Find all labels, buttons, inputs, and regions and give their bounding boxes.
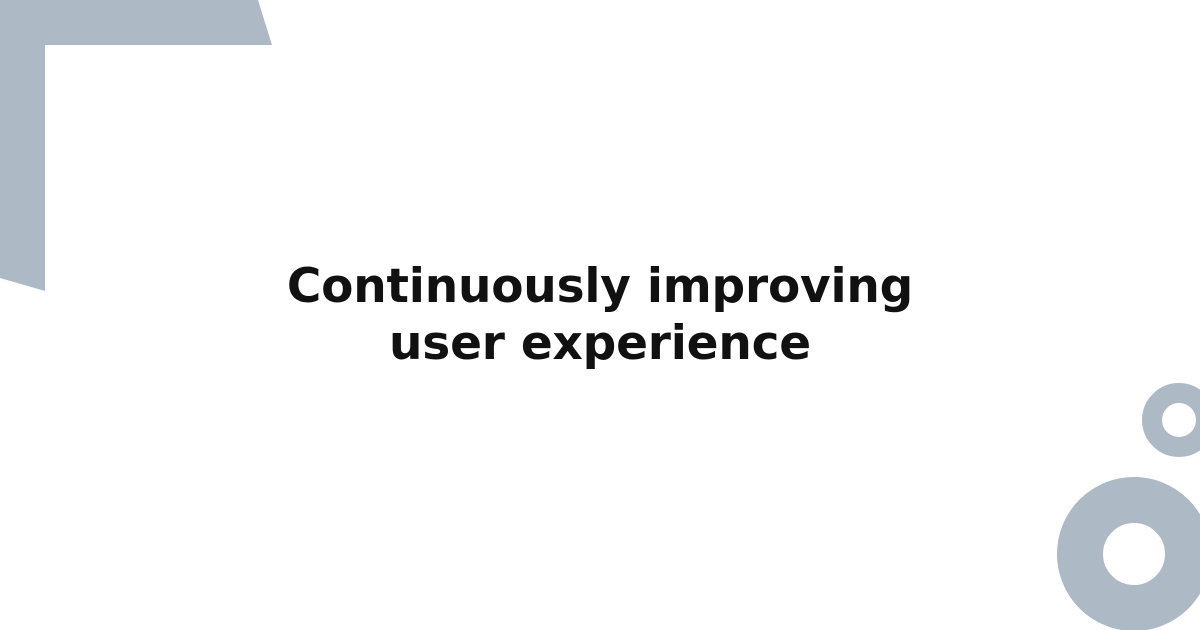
headline-container: Continuously improving user experience	[0, 0, 1200, 630]
social-card-canvas: Continuously improving user experience	[0, 0, 1200, 630]
page-title: Continuously improving user experience	[240, 258, 960, 372]
